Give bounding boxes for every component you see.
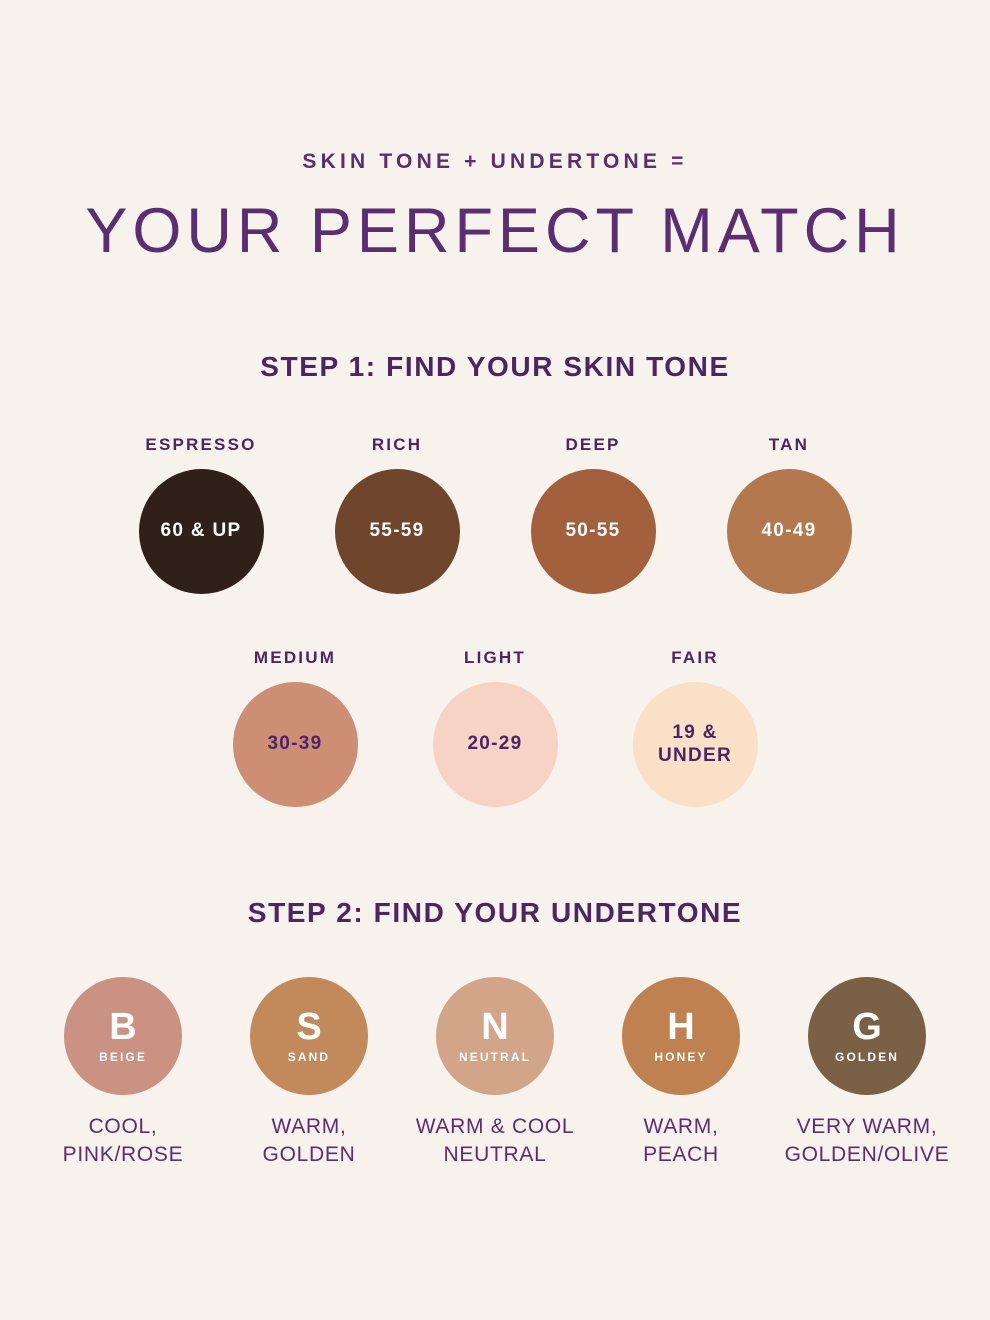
step1-heading: STEP 1: FIND YOUR SKIN TONE xyxy=(0,351,990,383)
skin-tone-range: 30-39 xyxy=(267,733,322,755)
skin-tone-range: 60 & UP xyxy=(161,520,242,542)
skin-tone-label: LIGHT xyxy=(464,648,526,668)
step2-heading: STEP 2: FIND YOUR UNDERTONE xyxy=(0,897,990,929)
undertone-neutral[interactable]: NNEUTRALWARM & COOL NEUTRAL xyxy=(405,977,585,1170)
undertone-name: GOLDEN xyxy=(835,1050,899,1064)
skin-tone-swatch[interactable]: 20-29 xyxy=(433,682,558,807)
undertone-sand[interactable]: SSANDWARM, GOLDEN xyxy=(219,977,399,1170)
skin-tone-range: 19 &UNDER xyxy=(658,722,732,767)
skin-tone-label: RICH xyxy=(372,435,422,455)
undertone-swatch[interactable]: HHONEY xyxy=(622,977,740,1095)
skin-tone-swatch[interactable]: 19 &UNDER xyxy=(633,682,758,807)
skin-tone-medium[interactable]: MEDIUM30-39 xyxy=(215,648,375,807)
skin-tone-rich[interactable]: RICH55-59 xyxy=(317,435,477,594)
undertone-name: HONEY xyxy=(654,1050,707,1064)
undertone-swatch[interactable]: NNEUTRAL xyxy=(436,977,554,1095)
skin-tone-deep[interactable]: DEEP50-55 xyxy=(513,435,673,594)
skin-tone-label: DEEP xyxy=(565,435,620,455)
skin-tone-espresso[interactable]: ESPRESSO60 & UP xyxy=(121,435,281,594)
skin-tone-label: FAIR xyxy=(671,648,719,668)
undertone-letter: H xyxy=(667,1008,694,1046)
skin-tone-label: MEDIUM xyxy=(254,648,336,668)
undertone-caption: WARM & COOL NEUTRAL xyxy=(416,1113,575,1170)
undertone-name: SAND xyxy=(288,1050,330,1064)
eyebrow-text: SKIN TONE + UNDERTONE = xyxy=(0,150,990,174)
skin-tone-range: 55-59 xyxy=(369,520,424,542)
skin-tone-swatch[interactable]: 30-39 xyxy=(233,682,358,807)
page-title: YOUR PERFECT MATCH xyxy=(0,200,990,263)
skin-tone-range: 50-55 xyxy=(565,520,620,542)
undertone-letter: N xyxy=(481,1008,508,1046)
undertone-caption: COOL, PINK/ROSE xyxy=(63,1113,184,1170)
undertone-caption: WARM, GOLDEN xyxy=(263,1113,356,1170)
skin-tone-range: 20-29 xyxy=(467,733,522,755)
undertone-name: NEUTRAL xyxy=(459,1050,531,1064)
skin-tone-range: 40-49 xyxy=(761,520,816,542)
skin-tone-fair[interactable]: FAIR19 &UNDER xyxy=(615,648,775,807)
skin-tone-label: ESPRESSO xyxy=(145,435,256,455)
skin-tone-swatch[interactable]: 50-55 xyxy=(531,469,656,594)
undertone-row: BBEIGECOOL, PINK/ROSESSANDWARM, GOLDENNN… xyxy=(0,977,990,1170)
undertone-letter: G xyxy=(852,1008,882,1046)
skin-tone-label: TAN xyxy=(769,435,809,455)
undertone-golden[interactable]: GGOLDENVERY WARM, GOLDEN/OLIVE xyxy=(777,977,957,1170)
undertone-beige[interactable]: BBEIGECOOL, PINK/ROSE xyxy=(33,977,213,1170)
skin-tone-swatch[interactable]: 60 & UP xyxy=(139,469,264,594)
skin-tone-row-light: MEDIUM30-39LIGHT20-29FAIR19 &UNDER xyxy=(0,648,990,807)
undertone-honey[interactable]: HHONEYWARM, PEACH xyxy=(591,977,771,1170)
skin-tone-tan[interactable]: TAN40-49 xyxy=(709,435,869,594)
undertone-caption: VERY WARM, GOLDEN/OLIVE xyxy=(785,1113,950,1170)
page-header: SKIN TONE + UNDERTONE = YOUR PERFECT MAT… xyxy=(0,0,990,263)
undertone-name: BEIGE xyxy=(99,1050,147,1064)
skin-tone-swatch[interactable]: 55-59 xyxy=(335,469,460,594)
undertone-caption: WARM, PEACH xyxy=(643,1113,719,1170)
skin-tone-row-dark: ESPRESSO60 & UPRICH55-59DEEP50-55TAN40-4… xyxy=(0,435,990,594)
undertone-swatch[interactable]: BBEIGE xyxy=(64,977,182,1095)
undertone-letter: S xyxy=(296,1008,321,1046)
undertone-swatch[interactable]: GGOLDEN xyxy=(808,977,926,1095)
undertone-letter: B xyxy=(109,1008,136,1046)
undertone-swatch[interactable]: SSAND xyxy=(250,977,368,1095)
skin-tone-swatch[interactable]: 40-49 xyxy=(727,469,852,594)
skin-tone-light[interactable]: LIGHT20-29 xyxy=(415,648,575,807)
